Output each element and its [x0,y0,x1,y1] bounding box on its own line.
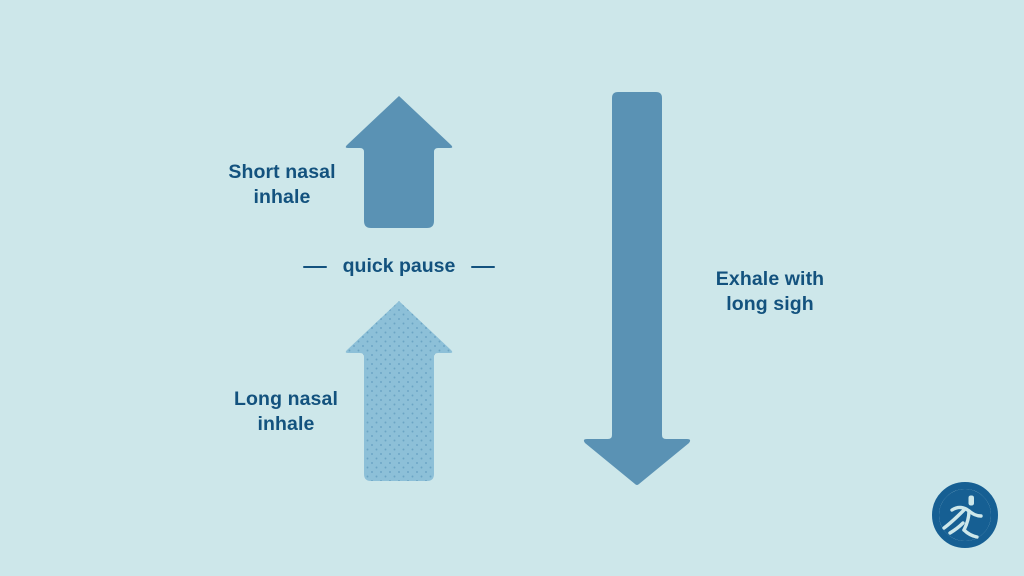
short-nasal-inhale-arrow [343,94,455,232]
long-nasal-inhale-arrow [343,299,455,484]
quick-pause-marker: quick pause [303,254,495,280]
quick-pause-label: quick pause [341,257,458,277]
pause-dash-right-icon [471,266,495,269]
diagram-canvas: Short nasal inhale quick pause Long nasa… [0,0,1024,576]
running-figure-logo [928,478,1002,552]
exhale-label: Exhale with long sigh [680,267,860,317]
exhale-arrow [580,90,694,488]
pause-dash-left-icon [303,266,327,269]
